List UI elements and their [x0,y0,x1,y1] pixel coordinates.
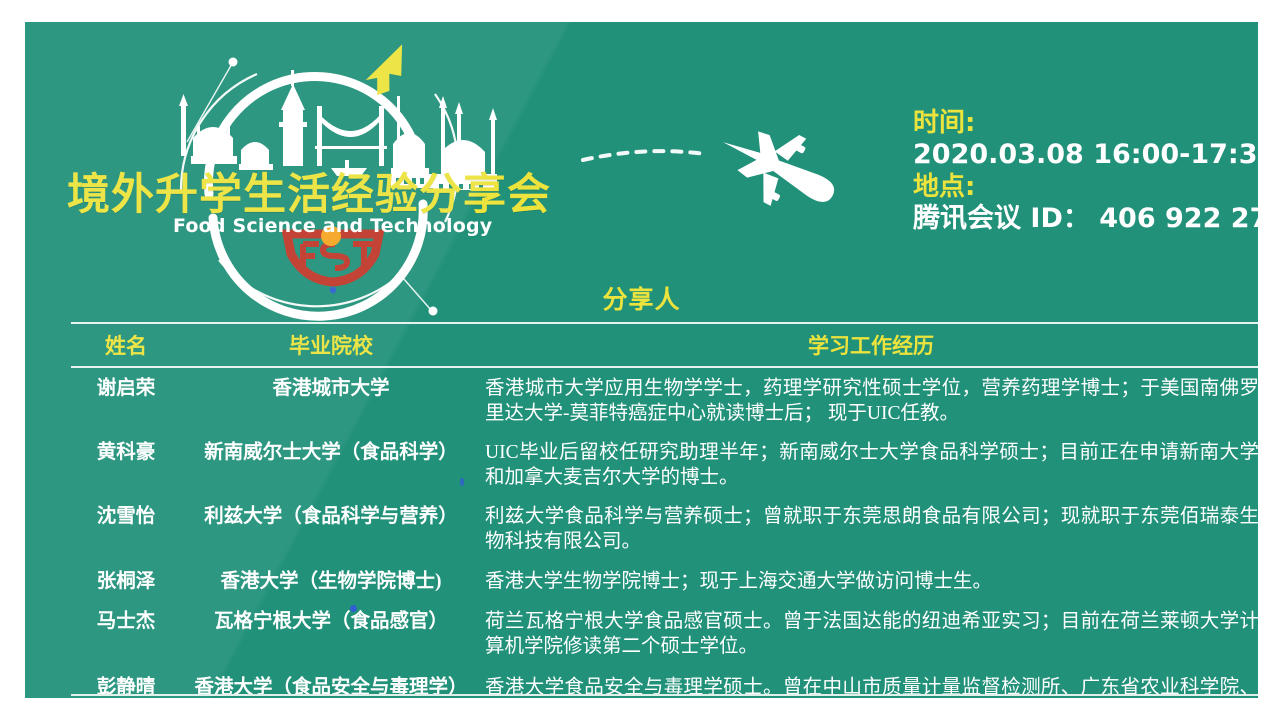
airplane-illustration [565,110,895,235]
table-row: 谢启荣 香港城市大学 香港城市大学应用生物学学士，药理学研究性硕士学位，营养药理… [71,376,1258,426]
presentation-slide: 境外升学生活经验分享会 Food Science and Technology … [0,0,1280,720]
slide-green-panel: 境外升学生活经验分享会 Food Science and Technology … [25,22,1258,698]
section-heading-speakers: 分享人 [25,280,1258,316]
cell-experience: 荷兰瓦格宁根大学食品感官硕士。曾于法国达能的纽迪希亚实习；目前在荷兰莱顿大学计算… [481,609,1258,659]
time-label: 时间: [913,108,1258,139]
cell-name: 张桐泽 [71,569,181,594]
column-header-experience: 学习工作经历 [481,330,1258,360]
cell-name: 谢启荣 [71,376,181,401]
table-row: 张桐泽 香港大学（生物学院博士) 香港大学生物学院博士；现于上海交通大学做访问博… [71,569,1258,594]
table-bottom-rule [71,694,1258,696]
table-row: 黄科豪 新南威尔士大学（食品科学） UIC毕业后留校任研究助理半年；新南威尔士大… [71,440,1258,490]
cell-experience: 香港城市大学应用生物学学士，药理学研究性硕士学位，营养药理学博士；于美国南佛罗里… [481,376,1258,426]
cell-school: 新南威尔士大学（食品科学） [181,440,481,465]
table-header-row: 姓名 毕业院校 学习工作经历 [71,324,1258,366]
time-value: 2020.03.08 16:00-17:30pm [913,139,1258,171]
cell-experience: 利兹大学食品科学与营养硕士；曾就职于东莞思朗食品有限公司；现就职于东莞佰瑞泰生物… [481,504,1258,554]
speakers-table: 姓名 毕业院校 学习工作经历 谢启荣 香港城市大学 香港城市大学应用生物学学士，… [71,322,1258,698]
cell-experience: 香港大学生物学院博士；现于上海交通大学做访问博士生。 [481,569,1258,594]
event-info-block: 时间: 2020.03.08 16:00-17:30pm 地点: 腾讯会议 ID… [913,108,1258,235]
table-row: 沈雪怡 利兹大学（食品科学与营养） 利兹大学食品科学与营养硕士；曾就职于东莞思朗… [71,504,1258,554]
table-row: 马士杰 瓦格宁根大学（食品感官） 荷兰瓦格宁根大学食品感官硕士。曾于法国达能的纽… [71,609,1258,659]
cell-name: 黄科豪 [71,440,181,465]
cell-name: 沈雪怡 [71,504,181,529]
cell-name: 马士杰 [71,609,181,634]
cell-school: 瓦格宁根大学（食品感官） [181,609,481,634]
event-title-cn: 境外升学生活经验分享会 [67,160,551,222]
table-header-rule [71,366,1258,368]
cell-experience: UIC毕业后留校任研究助理半年；新南威尔士大学食品科学硕士；目前正在申请新南大学… [481,440,1258,490]
decorative-speck [460,478,464,486]
dashed-trail [583,151,705,160]
cell-school: 香港大学（生物学院博士) [181,569,481,594]
event-title-en: Food Science and Technology [173,215,492,237]
place-label: 地点: [913,172,1258,203]
column-header-name: 姓名 [71,330,181,360]
cell-school: 香港城市大学 [181,376,481,401]
column-header-school: 毕业院校 [181,330,481,360]
place-value: 腾讯会议 ID： 406 922 272 [913,203,1258,235]
cell-school: 利兹大学（食品科学与营养） [181,504,481,529]
plane-icon [707,110,850,229]
decorative-speck [350,605,357,612]
